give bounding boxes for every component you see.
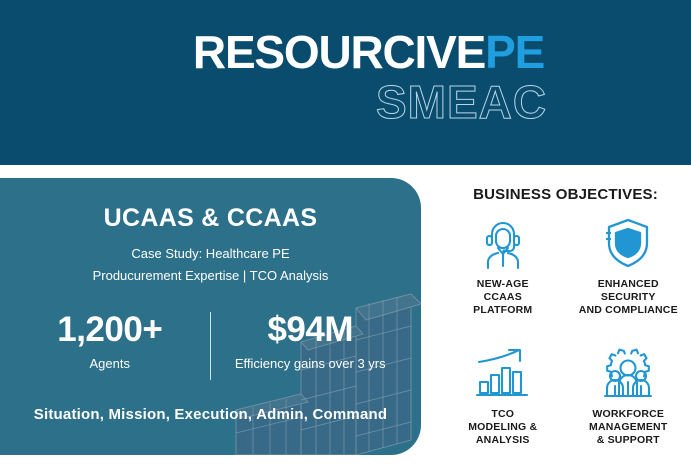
objective-label-tco-modeling: TCO MODELING & ANALYSIS	[468, 408, 537, 447]
objective-item-ccaas-platform: NEW-AGE CCAAS PLATFORM	[440, 210, 566, 340]
header-band: RESOURCIVEPE SMEAC	[0, 0, 691, 165]
business-objectives-panel: BUSINESS OBJECTIVES:	[440, 178, 691, 470]
objective-item-security: ENHANCED SECURITY AND COMPLIANCE	[566, 210, 691, 340]
brand-logo-primary: RESOURCIVEPE	[0, 28, 691, 76]
people-gear-workforce-icon	[600, 342, 656, 404]
stats-row: 1,200+ Agents $94M Efficiency gains over…	[10, 308, 410, 390]
brand-name-main: RESOURCIVE	[193, 26, 485, 78]
stat-savings: $94M Efficiency gains over 3 yrs	[211, 308, 411, 390]
case-card-title: UCAAS & CCAAS	[0, 204, 421, 233]
brand-logo: RESOURCIVEPE SMEAC	[0, 28, 691, 125]
case-card-tagline: Situation, Mission, Execution, Admin, Co…	[0, 406, 421, 423]
objective-label-workforce: WORKFORCE MANAGEMENT & SUPPORT	[589, 408, 667, 447]
headset-agent-icon	[476, 212, 530, 274]
stat-agents-label: Agents	[10, 356, 210, 371]
stat-agents: 1,200+ Agents	[10, 308, 210, 390]
stat-agents-value: 1,200+	[10, 308, 210, 352]
slide-root: RESOURCIVEPE SMEAC	[0, 0, 691, 470]
shield-security-icon	[601, 212, 655, 274]
business-objectives-heading: BUSINESS OBJECTIVES:	[440, 186, 691, 203]
objective-label-security: ENHANCED SECURITY AND COMPLIANCE	[579, 278, 678, 317]
brand-name-accent: PE	[485, 26, 544, 78]
bar-chart-growth-icon	[475, 342, 531, 404]
case-card-subtitle-2: Producurement Expertise | TCO Analysis	[0, 268, 421, 283]
stat-savings-label: Efficiency gains over 3 yrs	[211, 356, 411, 371]
objective-label-ccaas-platform: NEW-AGE CCAAS PLATFORM	[473, 278, 532, 317]
business-objectives-grid: NEW-AGE CCAAS PLATFORM ENHANCED SECURITY…	[440, 210, 691, 470]
case-card-subtitle-1: Case Study: Healthcare PE	[0, 246, 421, 261]
case-card-content: UCAAS & CCAAS Case Study: Healthcare PE …	[0, 178, 421, 455]
case-study-card: UCAAS & CCAAS Case Study: Healthcare PE …	[0, 178, 421, 455]
objective-item-workforce: WORKFORCE MANAGEMENT & SUPPORT	[566, 340, 691, 470]
objective-item-tco-modeling: TCO MODELING & ANALYSIS	[440, 340, 566, 470]
brand-logo-outline-word: SMEAC	[0, 79, 691, 125]
stat-savings-value: $94M	[211, 308, 411, 352]
